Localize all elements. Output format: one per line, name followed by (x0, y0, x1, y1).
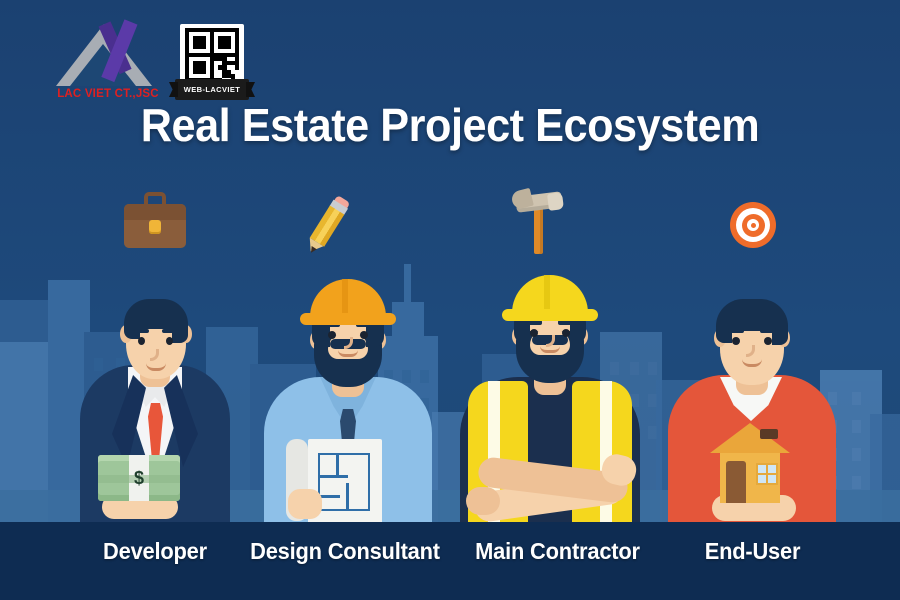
hand (288, 489, 322, 519)
eye-left (530, 329, 538, 337)
eye-right (764, 337, 772, 345)
label-end-user[interactable]: End-User (674, 538, 831, 565)
qr-code-icon (180, 24, 244, 86)
label-design-consultant[interactable]: Design Consultant (245, 538, 445, 565)
eye-right (562, 329, 570, 337)
lacviet-logo[interactable]: LAC VIET CT.,JSC (48, 18, 160, 104)
roles-illustration-row: $ (0, 180, 900, 525)
person-design-consultant[interactable] (262, 243, 434, 525)
person-end-user[interactable] (662, 253, 842, 525)
qr-ribbon: WEB-LACVIET (175, 79, 249, 100)
v-check-icon (88, 22, 150, 88)
label-main-contractor[interactable]: Main Contractor (460, 538, 655, 565)
briefcase-icon (124, 190, 186, 252)
cash-stack-icon: $ (98, 455, 180, 501)
page-title: Real Estate Project Ecosystem (27, 98, 873, 152)
poster-canvas: LAC VIET CT.,JSC WEB-LACVIET Real Estate… (0, 0, 900, 600)
qr-ribbon-label: WEB-LACVIET (184, 85, 240, 94)
eye-right (360, 331, 368, 339)
eyebrow-right (760, 328, 776, 333)
person-main-contractor[interactable] (452, 245, 648, 525)
eyebrow-right (162, 329, 177, 333)
hard-hat-brim (502, 309, 598, 321)
eyebrow-left (134, 329, 149, 333)
eye-right (166, 337, 173, 345)
eyebrow-left (728, 328, 744, 333)
hard-hat-ridge (342, 279, 348, 313)
qr-badge[interactable]: WEB-LACVIET (175, 24, 249, 104)
hair-side-left (124, 317, 140, 339)
eye-left (328, 331, 336, 339)
person-developer[interactable]: $ (72, 253, 238, 525)
labels-bar: Developer Design Consultant Main Contrac… (0, 522, 900, 600)
eye-left (732, 337, 740, 345)
eye-left (138, 337, 145, 345)
label-developer[interactable]: Developer (74, 538, 236, 565)
target-icon (724, 192, 782, 250)
hard-hat-brim (300, 313, 396, 325)
hard-hat-ridge (544, 275, 550, 309)
hand-left (466, 487, 500, 515)
